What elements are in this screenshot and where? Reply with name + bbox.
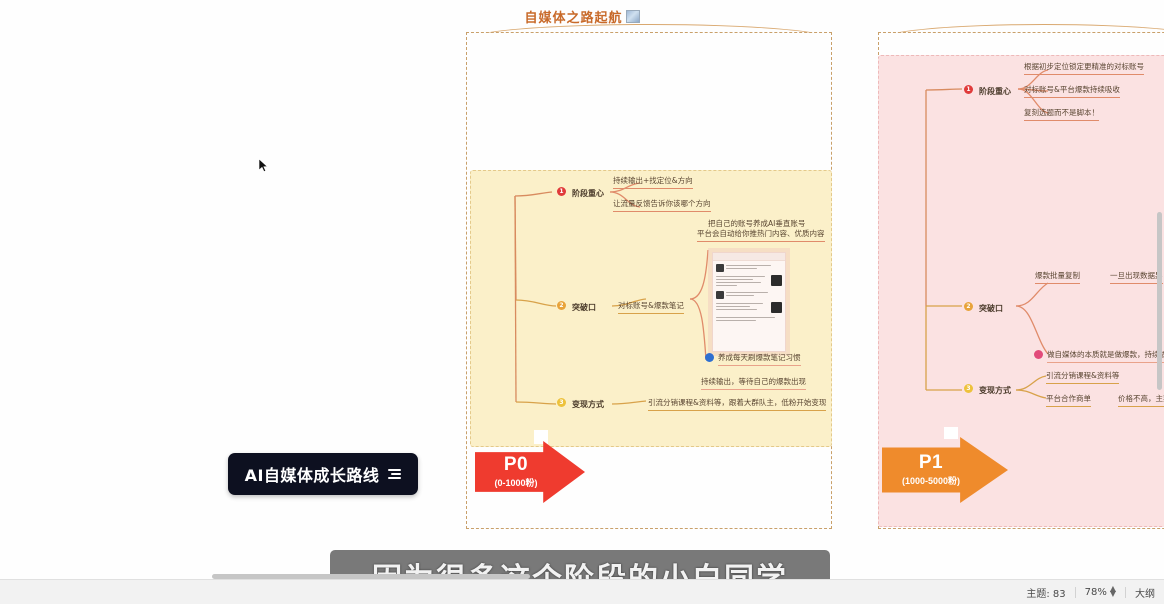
leaf-p1-3-1[interactable]: 引流分销课程&资料等 — [1046, 371, 1119, 384]
branch-bullet-p0-1[interactable]: 1 — [557, 187, 566, 196]
arrow-stem-p0 — [534, 430, 548, 444]
branch-bullet-p0-2[interactable]: 2 — [557, 301, 566, 310]
branch-index: 1 — [559, 188, 563, 195]
avatar-icon — [716, 291, 724, 299]
leaf-p1-1-1[interactable]: 根据初步定位锁定更精准的对标账号 — [1024, 62, 1144, 75]
branch-index: 1 — [966, 86, 970, 93]
status-zoom-value: 78% — [1085, 587, 1107, 598]
branch-bullet-p1-3[interactable]: 3 — [964, 384, 973, 393]
branch-bullet-p0-3[interactable]: 3 — [557, 398, 566, 407]
thumb-row — [713, 313, 785, 323]
branch-index: 2 — [966, 303, 970, 310]
thumb-image — [771, 302, 782, 313]
arrow-stem-p1 — [944, 427, 958, 439]
branch-index: 3 — [559, 399, 563, 406]
leaf-p1-2-1[interactable]: 爆款批量复制 — [1035, 271, 1080, 284]
thumb-row — [713, 288, 785, 299]
branch-bullet-p1-1[interactable]: 1 — [964, 85, 973, 94]
thumb-row — [713, 272, 785, 288]
branch-label-p1-1[interactable]: 阶段重心 — [979, 86, 1011, 97]
branch-label-p1-2[interactable]: 突破口 — [979, 303, 1003, 314]
flag-icon — [626, 10, 640, 23]
root-node-chip[interactable]: AI自媒体成长路线 — [228, 453, 418, 495]
leaf-p0-1-2[interactable]: 让流量反馈告诉你该哪个方向 — [613, 199, 711, 212]
status-zoom[interactable]: 78%▲▼ — [1076, 587, 1125, 598]
leaf-p1-1-2[interactable]: 对标账号&平台爆款持续吸收 — [1024, 85, 1120, 98]
status-outline[interactable]: 大纲 — [1126, 585, 1164, 600]
thumb-row — [713, 299, 785, 313]
status-topics: 主题: 83 — [1017, 585, 1074, 600]
board-title-text: 自媒体之路起航 — [524, 10, 622, 25]
thumb-lines — [726, 291, 782, 299]
note-bullet-p1-2[interactable] — [1034, 350, 1043, 359]
branch-label-p0-1[interactable]: 阶段重心 — [572, 188, 604, 199]
thumb-image — [771, 275, 782, 286]
board-title: 自媒体之路起航 — [0, 7, 1164, 26]
branch-label-p0-2[interactable]: 突破口 — [572, 302, 596, 313]
note-bullet-p0-2[interactable] — [705, 353, 714, 362]
branch-bullet-p1-2[interactable]: 2 — [964, 302, 973, 311]
leaf-p0-2-1[interactable]: 对标账号&爆款笔记 — [618, 301, 684, 314]
hamburger-icon[interactable] — [388, 469, 401, 479]
branch-label-p1-3[interactable]: 变现方式 — [979, 385, 1011, 396]
reference-screenshot-thumbnail[interactable] — [712, 252, 786, 352]
stage-arrow-range-p1: (1000-5000粉) — [902, 474, 960, 487]
thumb-lines — [716, 302, 769, 313]
thumb-row — [713, 261, 785, 272]
leaf-p1-2-2[interactable]: 一旦出现数据异 — [1110, 271, 1163, 284]
thumb-lines — [716, 275, 769, 288]
note-p0-2-top2[interactable]: 平台会自动给你推热门内容、优质内容 — [697, 229, 825, 242]
leaf-p0-1-1[interactable]: 持续输出+找定位&方向 — [613, 176, 693, 189]
stage-arrow-label-p0: P0 — [504, 455, 528, 475]
branch-index: 2 — [559, 302, 563, 309]
stage-arrow-label-p1: P1 — [919, 453, 943, 473]
stage-arrow-range-p0: (0-1000粉) — [494, 476, 537, 489]
leaf-p1-3-2[interactable]: 平台合作商单 — [1046, 394, 1091, 407]
thumb-lines — [716, 316, 782, 323]
leaf-p1-1-3[interactable]: 复刻选题而不是脚本！ — [1024, 108, 1099, 121]
branch-index: 3 — [966, 385, 970, 392]
leaf-p0-3-1[interactable]: 引流分销课程&资料等，跟着大群队主，低粉开始变现 — [648, 398, 826, 411]
root-node-label: AI自媒体成长路线 — [245, 462, 380, 486]
vertical-scrollbar-thumb[interactable] — [1157, 212, 1162, 390]
mouse-cursor — [259, 159, 268, 172]
mindmap-canvas[interactable]: 自媒体之路起航 — [0, 0, 1164, 604]
note-label-p1-2[interactable]: 做自媒体的本质就是做爆款，持续输 — [1047, 350, 1164, 363]
thumb-header — [713, 253, 785, 261]
avatar-icon — [716, 264, 724, 272]
note-bottom-p0-2[interactable]: 持续输出，等待自己的爆款出现 — [701, 377, 806, 390]
thumb-lines — [726, 264, 782, 272]
zoom-stepper-icon[interactable]: ▲▼ — [1110, 587, 1116, 597]
note-label-p0-2[interactable]: 养成每天刷爆款笔记习惯 — [718, 353, 801, 366]
leaf-p1-3-3[interactable]: 价格不高，主要 — [1118, 394, 1164, 407]
status-bar: 主题: 83 78%▲▼ 大纲 — [0, 579, 1164, 604]
branch-label-p0-3[interactable]: 变现方式 — [572, 399, 604, 410]
